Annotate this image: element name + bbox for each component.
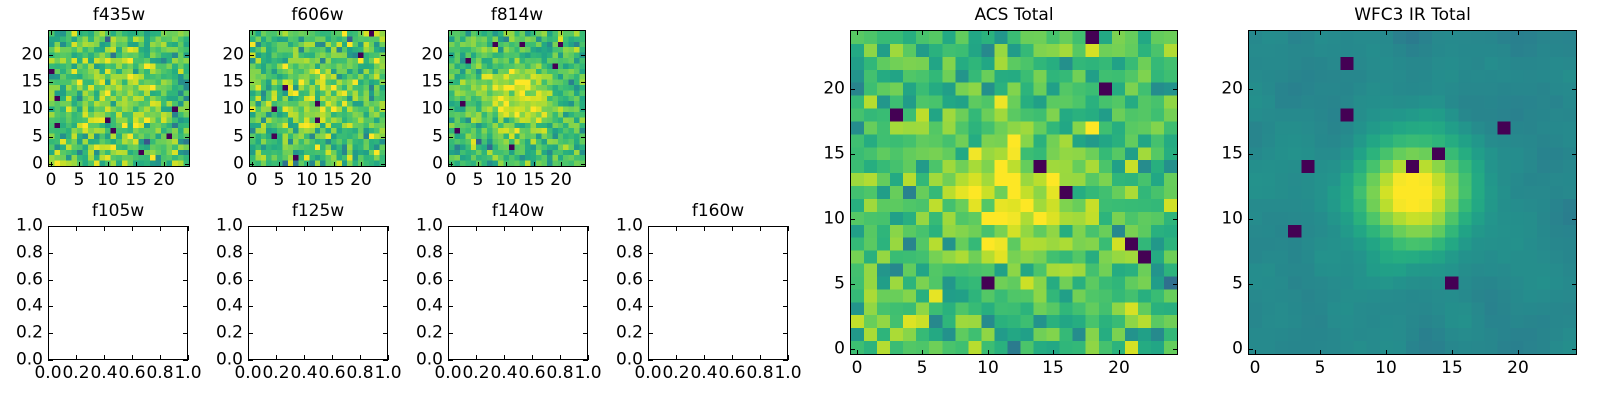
xtick-f814w-1 — [478, 30, 479, 35]
ytick-label-acs-total-2: 10 — [823, 210, 845, 229]
xtick-label-f814w-1: 5 — [473, 171, 484, 190]
xtick-f435w-2 — [108, 162, 109, 167]
xtick-f140w-3 — [532, 226, 533, 231]
ytick-label-wfc3-ir-total-2: 10 — [1221, 210, 1243, 229]
xtick-acs-total-2 — [988, 350, 989, 355]
xtick-f125w-2 — [304, 355, 305, 360]
xtick-label-wfc3-ir-total-4: 20 — [1507, 359, 1529, 378]
panel-title-f140w: f140w — [448, 202, 588, 221]
ytick-wfc3-ir-total-4 — [1572, 89, 1577, 90]
ytick-acs-total-2 — [1173, 219, 1178, 220]
ytick-label-f160w-2: 0.4 — [616, 297, 643, 316]
ytick-f606w-0 — [381, 164, 386, 165]
ytick-label-f140w-5: 1.0 — [416, 217, 443, 236]
ytick-label-f435w-2: 10 — [21, 100, 43, 119]
xtick-f606w-4 — [361, 30, 362, 35]
xtick-label-f435w-0: 0 — [46, 171, 57, 190]
xtick-f105w-3 — [132, 355, 133, 360]
ytick-label-f125w-1: 0.2 — [216, 324, 243, 343]
ytick-f606w-3 — [249, 82, 254, 83]
panel-title-f814w: f814w — [448, 6, 586, 25]
xtick-label-f160w-1: 0.2 — [662, 364, 689, 383]
ytick-f160w-3 — [648, 280, 653, 281]
ytick-label-f160w-0: 0.0 — [616, 351, 643, 370]
ytick-f160w-0 — [648, 360, 653, 361]
xtick-f105w-5 — [188, 226, 189, 231]
ytick-f125w-5 — [383, 226, 388, 227]
panel-title-wfc3-ir-total: WFC3 IR Total — [1248, 6, 1577, 25]
ytick-f140w-5 — [448, 226, 453, 227]
ytick-label-f435w-3: 15 — [21, 73, 43, 92]
ytick-label-f814w-3: 15 — [421, 73, 443, 92]
ytick-f435w-3 — [185, 82, 190, 83]
ytick-wfc3-ir-total-1 — [1572, 284, 1577, 285]
ytick-f435w-0 — [48, 164, 53, 165]
ytick-label-f105w-0: 0.0 — [16, 351, 43, 370]
ytick-wfc3-ir-total-2 — [1572, 219, 1577, 220]
xtick-label-f160w-3: 0.6 — [718, 364, 745, 383]
xtick-label-f160w-2: 0.4 — [690, 364, 717, 383]
xtick-label-acs-total-3: 15 — [1042, 359, 1064, 378]
xtick-label-wfc3-ir-total-1: 5 — [1315, 359, 1326, 378]
ytick-label-acs-total-1: 5 — [834, 275, 845, 294]
ytick-f105w-2 — [183, 306, 188, 307]
xtick-f814w-2 — [506, 30, 507, 35]
ytick-label-acs-total-0: 0 — [834, 340, 845, 359]
xtick-f125w-2 — [304, 226, 305, 231]
ytick-f105w-1 — [48, 333, 53, 334]
xtick-label-f125w-2: 0.4 — [290, 364, 317, 383]
ytick-f140w-5 — [583, 226, 588, 227]
ytick-f160w-1 — [648, 333, 653, 334]
xtick-label-f160w-4: 0.8 — [746, 364, 773, 383]
xtick-label-f125w-4: 0.8 — [346, 364, 373, 383]
xtick-wfc3-ir-total-1 — [1320, 350, 1321, 355]
heatmap-image-f814w — [449, 31, 585, 166]
ytick-f125w-4 — [248, 253, 253, 254]
ytick-f606w-4 — [249, 55, 254, 56]
ytick-label-f435w-0: 0 — [32, 155, 43, 174]
figure-canvas: f435w0510152005101520f606w05101520051015… — [0, 0, 1600, 400]
xtick-label-f140w-3: 0.6 — [518, 364, 545, 383]
xtick-f160w-4 — [760, 355, 761, 360]
heatmap-image-f606w — [250, 31, 385, 166]
ytick-wfc3-ir-total-3 — [1248, 154, 1253, 155]
ytick-label-f105w-2: 0.4 — [16, 297, 43, 316]
ytick-label-f140w-2: 0.4 — [416, 297, 443, 316]
ytick-label-f125w-5: 1.0 — [216, 217, 243, 236]
ytick-f125w-1 — [383, 333, 388, 334]
xtick-f606w-0 — [252, 30, 253, 35]
xtick-f606w-1 — [279, 162, 280, 167]
ytick-f435w-4 — [48, 55, 53, 56]
ytick-label-f160w-3: 0.6 — [616, 271, 643, 290]
xtick-f125w-1 — [276, 355, 277, 360]
xtick-f125w-3 — [332, 226, 333, 231]
xtick-label-f140w-4: 0.8 — [546, 364, 573, 383]
xtick-acs-total-2 — [988, 30, 989, 35]
ytick-f105w-0 — [183, 360, 188, 361]
ytick-f140w-1 — [583, 333, 588, 334]
xtick-f160w-1 — [676, 226, 677, 231]
ytick-f160w-2 — [648, 306, 653, 307]
ytick-label-f435w-1: 5 — [32, 128, 43, 147]
ytick-f606w-2 — [381, 109, 386, 110]
ytick-acs-total-1 — [850, 284, 855, 285]
xtick-label-f105w-4: 0.8 — [146, 364, 173, 383]
xtick-f606w-2 — [307, 30, 308, 35]
xtick-label-f140w-5: 1.0 — [574, 364, 601, 383]
ytick-f435w-3 — [48, 82, 53, 83]
ytick-label-f606w-3: 15 — [222, 73, 244, 92]
xtick-label-f606w-0: 0 — [247, 171, 258, 190]
xtick-label-f606w-4: 20 — [350, 171, 372, 190]
heatmap-image-wfc3-ir-total — [1249, 31, 1576, 354]
xtick-label-wfc3-ir-total-3: 15 — [1441, 359, 1463, 378]
xtick-label-f814w-2: 10 — [495, 171, 517, 190]
panel-title-f606w: f606w — [249, 6, 386, 25]
ytick-f814w-4 — [581, 55, 586, 56]
xtick-f140w-5 — [588, 226, 589, 231]
xtick-wfc3-ir-total-2 — [1386, 350, 1387, 355]
ytick-label-f105w-4: 0.8 — [16, 244, 43, 263]
ytick-f105w-5 — [48, 226, 53, 227]
ytick-f814w-3 — [448, 82, 453, 83]
xtick-label-f814w-4: 20 — [550, 171, 572, 190]
ytick-f125w-2 — [248, 306, 253, 307]
ytick-f814w-1 — [581, 137, 586, 138]
ytick-label-f814w-1: 5 — [432, 128, 443, 147]
axes-f105w — [48, 226, 188, 360]
xtick-label-f435w-4: 20 — [153, 171, 175, 190]
xtick-label-f105w-2: 0.4 — [90, 364, 117, 383]
ytick-f814w-2 — [448, 109, 453, 110]
xtick-wfc3-ir-total-3 — [1452, 350, 1453, 355]
xtick-f435w-4 — [164, 30, 165, 35]
axes-f160w — [648, 226, 788, 360]
xtick-label-f125w-5: 1.0 — [374, 364, 401, 383]
xtick-f105w-5 — [188, 355, 189, 360]
ytick-label-f125w-3: 0.6 — [216, 271, 243, 290]
axes-f814w — [448, 30, 586, 167]
xtick-f160w-1 — [676, 355, 677, 360]
ytick-label-f140w-3: 0.6 — [416, 271, 443, 290]
xtick-label-f435w-2: 10 — [97, 171, 119, 190]
xtick-f606w-1 — [279, 30, 280, 35]
ytick-f606w-1 — [381, 137, 386, 138]
axes-f125w — [248, 226, 388, 360]
xtick-f435w-4 — [164, 162, 165, 167]
ytick-label-f606w-1: 5 — [233, 128, 244, 147]
ytick-f606w-1 — [249, 137, 254, 138]
ytick-label-wfc3-ir-total-4: 20 — [1221, 80, 1243, 99]
xtick-wfc3-ir-total-4 — [1518, 350, 1519, 355]
xtick-f606w-2 — [307, 162, 308, 167]
xtick-f814w-4 — [561, 30, 562, 35]
xtick-f435w-3 — [136, 30, 137, 35]
xtick-label-f125w-3: 0.6 — [318, 364, 345, 383]
ytick-label-f160w-1: 0.2 — [616, 324, 643, 343]
xtick-f125w-4 — [360, 226, 361, 231]
ytick-f125w-0 — [248, 360, 253, 361]
xtick-f160w-2 — [704, 226, 705, 231]
xtick-label-f606w-2: 10 — [296, 171, 318, 190]
ytick-f814w-2 — [581, 109, 586, 110]
ytick-f125w-2 — [383, 306, 388, 307]
xtick-f160w-3 — [732, 226, 733, 231]
ytick-f125w-4 — [383, 253, 388, 254]
xtick-f140w-3 — [532, 355, 533, 360]
xtick-f105w-4 — [160, 355, 161, 360]
ytick-f606w-0 — [249, 164, 254, 165]
xtick-label-f435w-3: 15 — [125, 171, 147, 190]
ytick-f125w-3 — [248, 280, 253, 281]
xtick-f160w-3 — [732, 355, 733, 360]
ytick-label-f140w-1: 0.2 — [416, 324, 443, 343]
ytick-f160w-4 — [783, 253, 788, 254]
ytick-f160w-5 — [648, 226, 653, 227]
xtick-f814w-3 — [534, 30, 535, 35]
ytick-wfc3-ir-total-3 — [1572, 154, 1577, 155]
xtick-label-f105w-3: 0.6 — [118, 364, 145, 383]
ytick-f140w-0 — [583, 360, 588, 361]
ytick-label-f435w-4: 20 — [21, 46, 43, 65]
xtick-f606w-3 — [334, 30, 335, 35]
xtick-f125w-5 — [388, 355, 389, 360]
xtick-label-f105w-5: 1.0 — [174, 364, 201, 383]
xtick-f160w-2 — [704, 355, 705, 360]
ytick-f160w-2 — [783, 306, 788, 307]
xtick-f140w-1 — [476, 355, 477, 360]
axes-f435w — [48, 30, 190, 167]
ytick-label-f814w-2: 10 — [421, 100, 443, 119]
xtick-acs-total-4 — [1119, 350, 1120, 355]
ytick-f125w-5 — [248, 226, 253, 227]
xtick-acs-total-0 — [857, 30, 858, 35]
ytick-label-acs-total-3: 15 — [823, 145, 845, 164]
ytick-acs-total-4 — [1173, 89, 1178, 90]
ytick-label-f125w-4: 0.8 — [216, 244, 243, 263]
xtick-label-f606w-3: 15 — [323, 171, 345, 190]
xtick-label-f606w-1: 5 — [274, 171, 285, 190]
xtick-label-acs-total-2: 10 — [977, 359, 999, 378]
xtick-label-acs-total-4: 20 — [1108, 359, 1130, 378]
ytick-f435w-4 — [185, 55, 190, 56]
ytick-f814w-1 — [448, 137, 453, 138]
ytick-f160w-1 — [783, 333, 788, 334]
panel-title-acs-total: ACS Total — [850, 6, 1178, 25]
ytick-f814w-0 — [581, 164, 586, 165]
ytick-f606w-4 — [381, 55, 386, 56]
xtick-label-f140w-1: 0.2 — [462, 364, 489, 383]
xtick-f814w-3 — [534, 162, 535, 167]
xtick-f125w-3 — [332, 355, 333, 360]
ytick-acs-total-0 — [1173, 349, 1178, 350]
ytick-f814w-3 — [581, 82, 586, 83]
ytick-label-f105w-5: 1.0 — [16, 217, 43, 236]
ytick-f435w-2 — [48, 109, 53, 110]
xtick-f105w-2 — [104, 226, 105, 231]
ytick-f606w-2 — [249, 109, 254, 110]
xtick-f435w-1 — [79, 162, 80, 167]
ytick-wfc3-ir-total-1 — [1248, 284, 1253, 285]
ytick-f105w-4 — [48, 253, 53, 254]
xtick-label-acs-total-0: 0 — [852, 359, 863, 378]
ytick-f435w-1 — [185, 137, 190, 138]
ytick-f140w-1 — [448, 333, 453, 334]
ytick-f435w-0 — [185, 164, 190, 165]
xtick-label-f814w-0: 0 — [446, 171, 457, 190]
panel-title-f105w: f105w — [48, 202, 188, 221]
axes-f140w — [448, 226, 588, 360]
xtick-acs-total-3 — [1053, 30, 1054, 35]
ytick-f435w-2 — [185, 109, 190, 110]
xtick-f125w-1 — [276, 226, 277, 231]
xtick-f140w-2 — [504, 355, 505, 360]
ytick-label-f160w-5: 1.0 — [616, 217, 643, 236]
ytick-f105w-0 — [48, 360, 53, 361]
ytick-f140w-4 — [583, 253, 588, 254]
xtick-f606w-4 — [361, 162, 362, 167]
ytick-label-f160w-4: 0.8 — [616, 244, 643, 263]
xtick-f105w-3 — [132, 226, 133, 231]
axes-wfc3-ir-total — [1248, 30, 1577, 355]
ytick-f814w-4 — [448, 55, 453, 56]
ytick-f140w-3 — [583, 280, 588, 281]
xtick-acs-total-1 — [922, 30, 923, 35]
axes-acs-total — [850, 30, 1178, 355]
panel-title-f125w: f125w — [248, 202, 388, 221]
panel-title-f160w: f160w — [648, 202, 788, 221]
xtick-label-f435w-1: 5 — [74, 171, 85, 190]
ytick-wfc3-ir-total-4 — [1248, 89, 1253, 90]
xtick-label-f105w-1: 0.2 — [62, 364, 89, 383]
xtick-f435w-2 — [108, 30, 109, 35]
ytick-label-f814w-4: 20 — [421, 46, 443, 65]
xtick-f140w-5 — [588, 355, 589, 360]
xtick-wfc3-ir-total-0 — [1255, 30, 1256, 35]
ytick-label-acs-total-4: 20 — [823, 80, 845, 99]
ytick-acs-total-3 — [1173, 154, 1178, 155]
xtick-label-wfc3-ir-total-0: 0 — [1250, 359, 1261, 378]
ytick-f105w-2 — [48, 306, 53, 307]
ytick-f105w-4 — [183, 253, 188, 254]
xtick-f140w-2 — [504, 226, 505, 231]
xtick-f105w-1 — [76, 226, 77, 231]
heatmap-image-acs-total — [851, 31, 1177, 354]
ytick-wfc3-ir-total-0 — [1248, 349, 1253, 350]
xtick-f435w-0 — [51, 30, 52, 35]
ytick-f125w-1 — [248, 333, 253, 334]
ytick-label-f105w-3: 0.6 — [16, 271, 43, 290]
ytick-f140w-4 — [448, 253, 453, 254]
ytick-label-f125w-2: 0.4 — [216, 297, 243, 316]
ytick-f140w-0 — [448, 360, 453, 361]
ytick-label-f125w-0: 0.0 — [216, 351, 243, 370]
ytick-wfc3-ir-total-0 — [1572, 349, 1577, 350]
xtick-f160w-5 — [788, 226, 789, 231]
ytick-f160w-0 — [783, 360, 788, 361]
xtick-acs-total-3 — [1053, 350, 1054, 355]
ytick-label-f606w-0: 0 — [233, 155, 244, 174]
xtick-wfc3-ir-total-2 — [1386, 30, 1387, 35]
ytick-f105w-5 — [183, 226, 188, 227]
ytick-f125w-0 — [383, 360, 388, 361]
xtick-f140w-4 — [560, 355, 561, 360]
xtick-label-acs-total-1: 5 — [917, 359, 928, 378]
xtick-label-wfc3-ir-total-2: 10 — [1375, 359, 1397, 378]
ytick-acs-total-2 — [850, 219, 855, 220]
ytick-f160w-4 — [648, 253, 653, 254]
xtick-label-f125w-1: 0.2 — [262, 364, 289, 383]
xtick-f125w-5 — [388, 226, 389, 231]
xtick-wfc3-ir-total-1 — [1320, 30, 1321, 35]
xtick-f140w-4 — [560, 226, 561, 231]
xtick-label-f160w-5: 1.0 — [774, 364, 801, 383]
ytick-f160w-3 — [783, 280, 788, 281]
ytick-acs-total-3 — [850, 154, 855, 155]
ytick-label-wfc3-ir-total-3: 15 — [1221, 145, 1243, 164]
xtick-acs-total-4 — [1119, 30, 1120, 35]
xtick-f435w-3 — [136, 162, 137, 167]
xtick-f105w-4 — [160, 226, 161, 231]
xtick-f606w-3 — [334, 162, 335, 167]
xtick-f814w-4 — [561, 162, 562, 167]
xtick-f814w-1 — [478, 162, 479, 167]
ytick-label-f140w-0: 0.0 — [416, 351, 443, 370]
xtick-wfc3-ir-total-3 — [1452, 30, 1453, 35]
ytick-acs-total-1 — [1173, 284, 1178, 285]
ytick-f140w-3 — [448, 280, 453, 281]
ytick-f140w-2 — [583, 306, 588, 307]
xtick-f105w-1 — [76, 355, 77, 360]
xtick-wfc3-ir-total-0 — [1255, 350, 1256, 355]
ytick-label-f105w-1: 0.2 — [16, 324, 43, 343]
xtick-f160w-5 — [788, 355, 789, 360]
xtick-f160w-4 — [760, 226, 761, 231]
ytick-f105w-3 — [183, 280, 188, 281]
panel-title-f435w: f435w — [48, 6, 190, 25]
ytick-f160w-5 — [783, 226, 788, 227]
ytick-label-f140w-4: 0.8 — [416, 244, 443, 263]
ytick-acs-total-0 — [850, 349, 855, 350]
ytick-label-wfc3-ir-total-1: 5 — [1232, 275, 1243, 294]
ytick-acs-total-4 — [850, 89, 855, 90]
xtick-label-f140w-2: 0.4 — [490, 364, 517, 383]
ytick-f105w-3 — [48, 280, 53, 281]
ytick-f125w-3 — [383, 280, 388, 281]
xtick-f125w-4 — [360, 355, 361, 360]
ytick-f435w-1 — [48, 137, 53, 138]
xtick-acs-total-1 — [922, 350, 923, 355]
ytick-label-f814w-0: 0 — [432, 155, 443, 174]
xtick-f140w-1 — [476, 226, 477, 231]
ytick-label-f606w-2: 10 — [222, 100, 244, 119]
ytick-f140w-2 — [448, 306, 453, 307]
axes-f606w — [249, 30, 386, 167]
xtick-acs-total-0 — [857, 350, 858, 355]
xtick-label-f814w-3: 15 — [523, 171, 545, 190]
xtick-f814w-0 — [451, 30, 452, 35]
ytick-label-wfc3-ir-total-0: 0 — [1232, 340, 1243, 359]
ytick-wfc3-ir-total-2 — [1248, 219, 1253, 220]
ytick-f105w-1 — [183, 333, 188, 334]
heatmap-image-f435w — [49, 31, 189, 166]
ytick-f606w-3 — [381, 82, 386, 83]
ytick-f814w-0 — [448, 164, 453, 165]
ytick-label-f606w-4: 20 — [222, 46, 244, 65]
xtick-f814w-2 — [506, 162, 507, 167]
